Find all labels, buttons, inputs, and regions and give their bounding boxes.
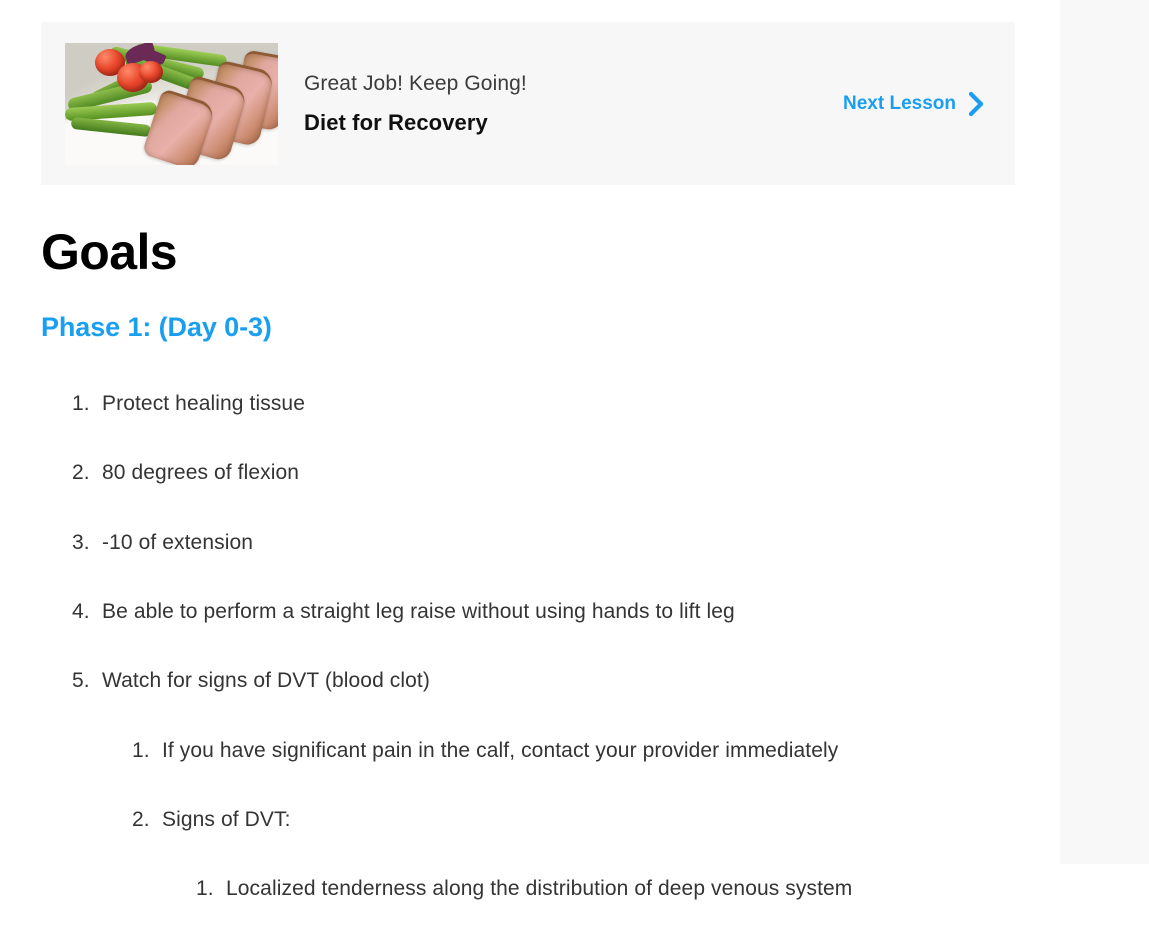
next-lesson-label: Next Lesson [843,93,956,115]
page-title: Goals [41,225,177,280]
goal-item-level-1: 2.80 degrees of flexion [41,459,1031,487]
goal-marker: 3. [72,529,102,557]
goal-marker: 1. [132,737,162,765]
goal-marker: 2. [132,806,162,834]
goal-item-level-1: 3.-10 of extension [41,529,1031,557]
chevron-right-icon [968,91,985,117]
goal-item-level-1: 4.Be able to perform a straight leg rais… [41,598,1031,626]
goal-text: Be able to perform a straight leg raise … [102,598,1031,626]
cherry-tomato [139,61,163,83]
next-lesson-link[interactable]: Next Lesson [843,91,985,117]
goal-item-level-2: 1.If you have significant pain in the ca… [41,737,1031,765]
next-lesson-banner: Great Job! Keep Going! Diet for Recovery… [41,22,1015,185]
phase-heading: Phase 1: (Day 0-3) [41,309,272,347]
goal-item-level-1: 5.Watch for signs of DVT (blood clot) [41,667,1031,695]
goal-marker: 2. [72,459,102,487]
goal-text: Watch for signs of DVT (blood clot) [102,667,1031,695]
goal-item-level-1: 1.Protect healing tissue [41,390,1031,418]
goal-text: Localized tenderness along the distribut… [226,875,1031,903]
main-content-column: Great Job! Keep Going! Diet for Recovery… [0,0,1060,864]
goal-text: Protect healing tissue [102,390,1031,418]
goal-marker: 5. [72,667,102,695]
banner-lesson-title: Diet for Recovery [304,106,843,139]
lesson-thumbnail [65,43,278,165]
goal-text: -10 of extension [102,529,1031,557]
goal-text: 80 degrees of flexion [102,459,1031,487]
goal-item-level-2: 2.Signs of DVT: [41,806,1031,834]
right-side-panel [1060,0,1149,864]
banner-kicker: Great Job! Keep Going! [304,68,843,100]
goal-text: If you have significant pain in the calf… [162,737,1031,765]
goal-list: 1.Protect healing tissue2.80 degrees of … [41,390,1031,945]
goal-marker: 1. [196,875,226,903]
goal-text: Signs of DVT: [162,806,1031,834]
goal-marker: 4. [72,598,102,626]
goal-item-level-3: 1.Localized tenderness along the distrib… [41,875,1031,903]
banner-text-block: Great Job! Keep Going! Diet for Recovery [304,68,843,139]
goal-marker: 1. [72,390,102,418]
